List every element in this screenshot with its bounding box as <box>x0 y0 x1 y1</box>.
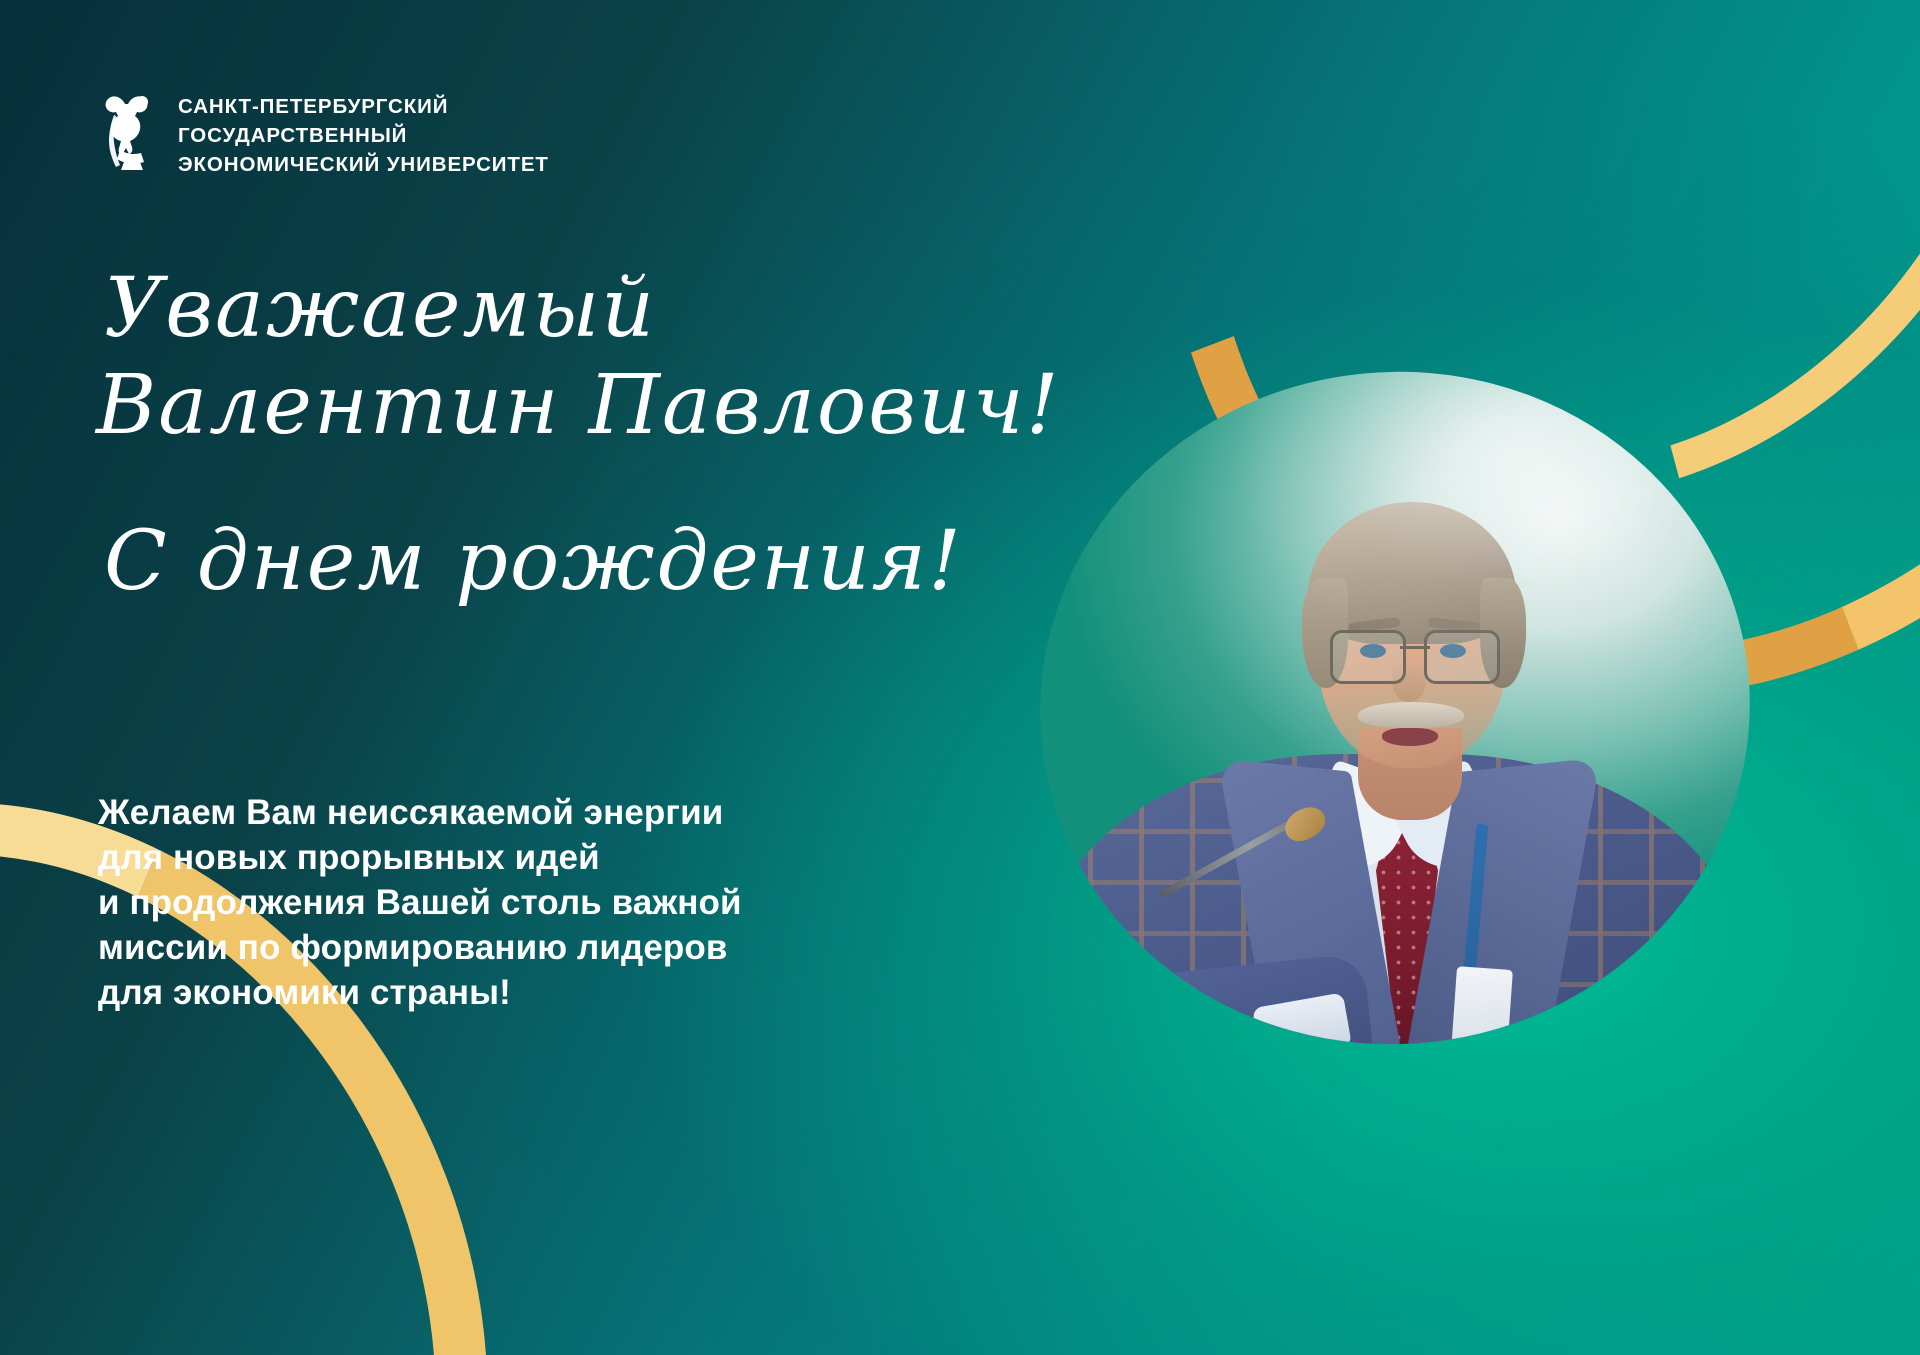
university-name-line-1: САНКТ-ПЕТЕРБУРГСКИЙ <box>178 94 549 120</box>
honoree-name-text: Валентин Павлович! <box>96 358 1096 455</box>
message-line: Желаем Вам неиссякаемой энергии <box>98 790 838 835</box>
eyeglass-bridge <box>1400 646 1430 649</box>
mustache <box>1358 702 1464 728</box>
portrait-photo <box>1040 372 1750 1044</box>
greeting-card: САНКТ-ПЕТЕРБУРГСКИЙ ГОСУДАРСТВЕННЫЙ ЭКОН… <box>0 0 1920 1355</box>
nose <box>1392 662 1426 702</box>
message-line: и продолжения Вашей столь важной <box>98 880 838 925</box>
portrait-subject <box>1040 372 1750 1044</box>
mouth <box>1382 728 1438 746</box>
message-line: миссии по формированию лидеров <box>98 925 838 970</box>
message-paragraph: Желаем Вам неиссякаемой энергии для новы… <box>98 790 838 1015</box>
occasion-text: С днем рождения! <box>104 521 1096 603</box>
griffin-emblem-icon <box>98 88 160 170</box>
message-line: для экономики страны! <box>98 970 838 1015</box>
university-name-line-2: ГОСУДАРСТВЕННЫЙ <box>178 123 549 149</box>
university-name: САНКТ-ПЕТЕРБУРГСКИЙ ГОСУДАРСТВЕННЫЙ ЭКОН… <box>178 88 549 179</box>
university-name-line-3: ЭКОНОМИЧЕСКИЙ УНИВЕРСИТЕТ <box>178 152 549 178</box>
conference-badge <box>1451 966 1513 1056</box>
script-greeting: Уважаемый Валентин Павлович! С днем рожд… <box>96 268 1096 603</box>
eyeglass-lens-right <box>1424 630 1500 684</box>
message-line: для новых прорывных идей <box>98 835 838 880</box>
portrait-oval-frame <box>1007 337 1783 1080</box>
salutation-text: Уважаемый <box>104 268 1096 350</box>
university-logo: САНКТ-ПЕТЕРБУРГСКИЙ ГОСУДАРСТВЕННЫЙ ЭКОН… <box>98 88 549 179</box>
